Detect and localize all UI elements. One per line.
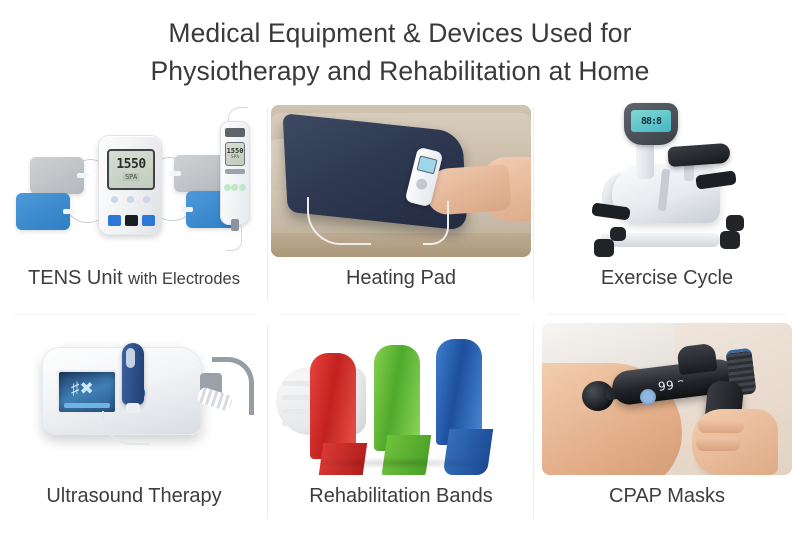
heating-pad-image xyxy=(268,97,534,265)
resistance-band-green xyxy=(374,345,420,451)
cycle-console[interactable]: 88:8 xyxy=(624,103,678,145)
equipment-card-tens-unit[interactable]: 1550 SPA 1550 xyxy=(0,97,268,315)
carpet xyxy=(271,233,531,257)
tens-unit-body: 1550 SPA xyxy=(98,135,162,235)
remote-cable-lower xyxy=(226,225,242,251)
electrode-pad xyxy=(16,193,70,230)
exercise-cycle-illustration: 88:8 xyxy=(572,101,762,261)
cycle-seat xyxy=(667,143,730,167)
tens-buttons[interactable] xyxy=(108,215,155,226)
tens-button-center xyxy=(125,215,138,226)
screen-progress-bar xyxy=(64,403,110,408)
tens-remote: 1550 SPA xyxy=(220,121,250,225)
page-title: Medical Equipment & Devices Used for Phy… xyxy=(0,14,800,90)
tens-unit-image: 1550 SPA 1550 xyxy=(0,97,268,265)
remote-display-sub: SPA xyxy=(231,155,239,160)
caption-tens-unit: TENS Unit with Electrodes xyxy=(28,265,240,292)
ultrasound-illustration: ♯✖ xyxy=(12,323,256,475)
bands-illustration xyxy=(276,323,526,475)
cycle-foot xyxy=(726,215,744,231)
caption-exercise-cycle: Exercise Cycle xyxy=(601,265,733,291)
cycle-display-value: 88:8 xyxy=(641,116,661,127)
equipment-card-heating-pad[interactable]: Heating Pad xyxy=(268,97,534,315)
resistance-band-blue xyxy=(436,339,482,445)
remote-screen: 1550 SPA xyxy=(225,142,245,166)
tens-unit-illustration: 1550 SPA 1550 xyxy=(12,105,256,257)
massage-gun-illustration: 99 xyxy=(542,323,792,475)
caption-tens-main: TENS Unit xyxy=(28,267,122,289)
cycle-lcd-screen: 88:8 xyxy=(631,110,671,132)
finger xyxy=(696,437,740,451)
caption-heating-pad-main: Heating Pad xyxy=(346,267,456,289)
ultrasound-therapy-image: ♯✖ xyxy=(0,315,268,483)
finger xyxy=(698,419,744,433)
probe-cord xyxy=(102,411,150,445)
caption-rehabilitation-bands: Rehabilitation Bands xyxy=(309,483,492,509)
remote-knobs[interactable] xyxy=(224,184,246,191)
cycle-foot xyxy=(720,231,740,249)
screen-graphic-icon: ♯✖ xyxy=(71,380,94,397)
remote-display-value: 1550 xyxy=(227,148,244,155)
probe-highlight xyxy=(126,348,135,368)
massage-gun-display-value: 99 xyxy=(657,378,675,394)
ultrasound-probe xyxy=(122,343,144,405)
cpap-masks-image: 99 xyxy=(534,315,800,483)
caption-cpap-main: CPAP Masks xyxy=(609,485,725,507)
tens-display-value: 1550 xyxy=(116,158,145,171)
cycle-foot xyxy=(610,227,626,241)
equipment-grid: 1550 SPA 1550 xyxy=(0,97,800,533)
cycle-foot xyxy=(594,239,614,257)
ultrasound-screen: ♯✖ xyxy=(57,370,117,414)
caption-exercise-cycle-main: Exercise Cycle xyxy=(601,267,733,289)
exercise-cycle-image: 88:8 xyxy=(534,97,800,265)
equipment-card-rehabilitation-bands[interactable]: Rehabilitation Bands xyxy=(268,315,534,533)
tens-display-sub: SPA xyxy=(123,173,139,181)
infographic-page: Medical Equipment & Devices Used for Phy… xyxy=(0,0,800,533)
remote-bar xyxy=(225,169,245,174)
remote-header xyxy=(225,128,245,137)
tens-button-right xyxy=(142,215,155,226)
caption-heating-pad: Heating Pad xyxy=(346,265,456,291)
rehabilitation-bands-image xyxy=(268,315,534,483)
tens-indicator-lights xyxy=(109,196,153,206)
tens-unit-screen: 1550 SPA xyxy=(107,149,155,190)
equipment-card-ultrasound-therapy[interactable]: ♯✖ Ultrasound Therapy xyxy=(0,315,268,533)
title-line-2: Physiotherapy and Rehabilitation at Home xyxy=(0,52,800,90)
tens-button-left xyxy=(108,215,121,226)
controller-screen xyxy=(416,155,437,174)
heating-pad-illustration xyxy=(271,105,531,257)
bands-shadow xyxy=(306,457,496,469)
caption-tens-sub: with Electrodes xyxy=(128,270,240,288)
massage-gun-top-cap xyxy=(676,343,717,375)
caption-cpap-masks: CPAP Masks xyxy=(609,483,725,509)
resistance-band-red xyxy=(310,353,356,459)
equipment-card-cpap-masks[interactable]: 99 CPAP Masks xyxy=(534,315,800,533)
title-line-1: Medical Equipment & Devices Used for xyxy=(0,14,800,52)
caption-bands-main: Rehabilitation Bands xyxy=(309,485,492,507)
equipment-card-exercise-cycle[interactable]: 88:8 Exercise Cycle xyxy=(534,97,800,315)
caption-ultrasound-therapy: Ultrasound Therapy xyxy=(46,483,221,509)
caption-ultrasound-main: Ultrasound Therapy xyxy=(46,485,221,507)
battery-icon xyxy=(677,380,686,389)
controller-button[interactable] xyxy=(415,177,428,190)
electrode-pad xyxy=(30,157,84,194)
